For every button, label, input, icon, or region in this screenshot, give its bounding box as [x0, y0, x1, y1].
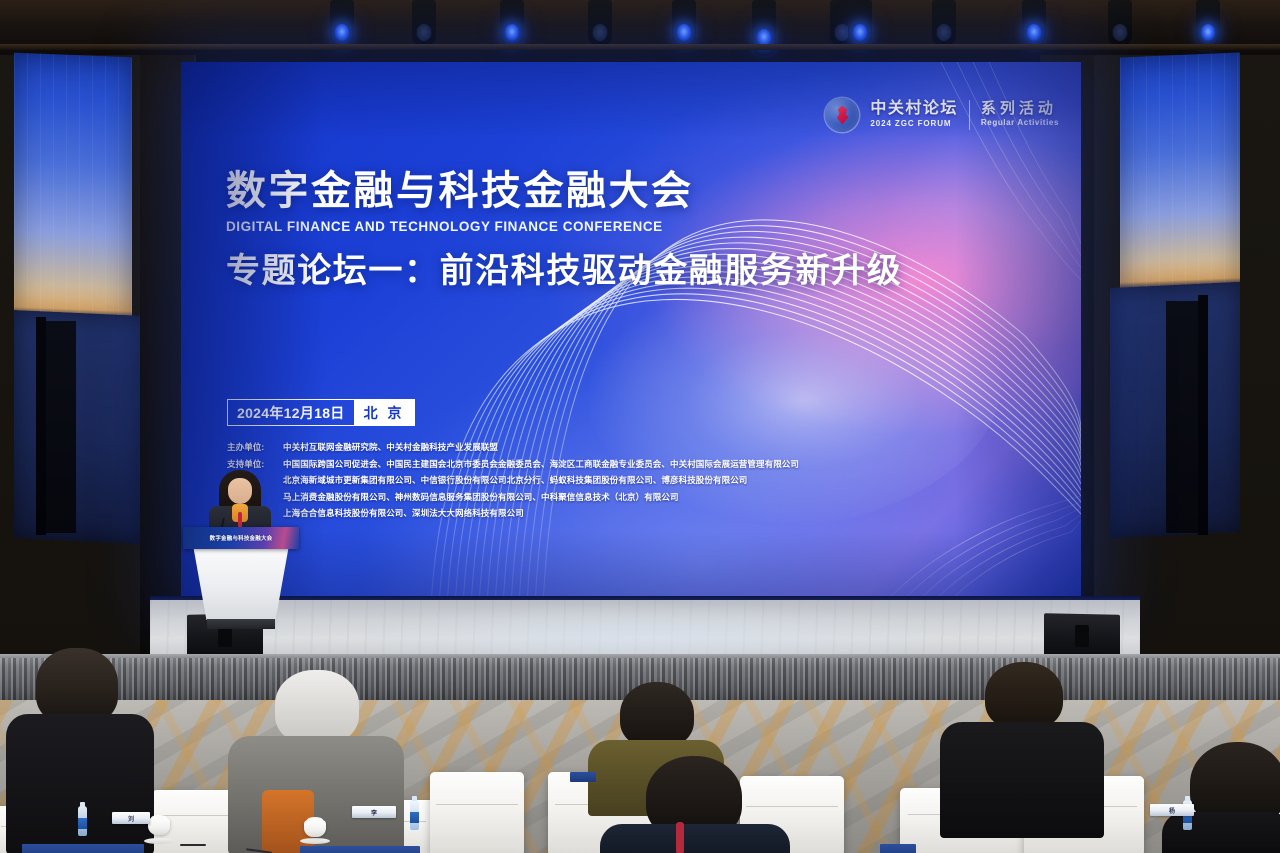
pen — [180, 844, 206, 846]
stage-light-icon — [412, 0, 436, 46]
name-plate-text: 李 — [371, 808, 377, 817]
wall-panel-dark — [14, 310, 142, 544]
water-bottle — [410, 800, 419, 830]
organizer-row: 主办单位: 中关村互联网金融研究院、中关村金融科技产业发展联盟 — [227, 439, 927, 456]
supporter-names-cont: 马上消费金融股份有限公司、神州数码信息服务集团股份有限公司、中科聚信信息技术（北… — [227, 489, 927, 506]
organizer-block: 主办单位: 中关村互联网金融研究院、中关村金融科技产业发展联盟 支持单位: 中国… — [227, 439, 927, 522]
white-sofa — [430, 772, 524, 853]
podium: 数字金融与科技金融大会 — [181, 515, 301, 620]
audience-head — [36, 648, 118, 724]
supporter-names: 中国国际跨国公司促进会、中国民主建国会北京市委员会金融委员会、海淀区工商联金融专… — [283, 456, 927, 473]
audience-head — [275, 670, 359, 744]
wave-line-art-graphic — [181, 62, 1081, 607]
supporter-names-cont: 北京海新域城市更新集团有限公司、中信银行股份有限公司北京分行、蚂蚁科技集团股份有… — [227, 472, 927, 489]
name-plate: 刘 — [112, 812, 150, 824]
conference-title-cn: 数字金融与科技金融大会 — [226, 170, 902, 213]
ceiling — [0, 0, 1280, 62]
supporter-names-cont: 上海合合信息科技股份有限公司、深圳法大大网络科技有限公司 — [227, 505, 927, 522]
stage-light-icon — [330, 0, 354, 46]
name-card — [22, 844, 144, 853]
conference-title-en: DIGITAL FINANCE AND TECHNOLOGY FINANCE C… — [226, 219, 902, 234]
event-date: 2024年12月18日 — [228, 400, 354, 425]
cup-saucer — [300, 838, 330, 844]
podium-base — [207, 619, 275, 629]
name-plate: 杨 — [1150, 804, 1194, 816]
cup-saucer — [144, 838, 174, 844]
podium-banner-text: 数字金融与科技金融大会 — [210, 534, 273, 542]
name-plate-text: 杨 — [1169, 806, 1175, 815]
door-face — [46, 321, 76, 533]
event-city: 北 京 — [354, 400, 415, 425]
logo-divider — [969, 100, 970, 130]
zgc-flame-icon — [825, 98, 859, 132]
stage-light-icon — [848, 0, 872, 46]
door-face — [1166, 301, 1198, 533]
audience-head — [620, 682, 694, 748]
podium-banner: 数字金融与科技金融大会 — [183, 527, 299, 549]
name-card — [570, 772, 596, 782]
ceiling-beam — [0, 44, 1280, 50]
name-card — [300, 846, 420, 853]
logo-name-en: 2024 ZGC FORUM — [870, 119, 958, 130]
forum-session-title: 专题论坛一：前沿科技驱动金融服务新升级 — [226, 253, 902, 290]
conference-hall-scene: 中关村论坛 2024 ZGC FORUM 系列活动 Regular Activi… — [0, 0, 1280, 853]
logo-name-cn: 中关村论坛 — [870, 101, 958, 118]
name-card — [880, 844, 916, 853]
audience-torso — [940, 722, 1104, 838]
stage-light-icon — [1196, 0, 1220, 46]
water-bottle — [78, 806, 87, 836]
speaker-face — [228, 478, 252, 504]
wall-panel-lit — [14, 53, 132, 320]
zgc-forum-logo-lockup: 中关村论坛 2024 ZGC FORUM 系列活动 Regular Activi… — [825, 98, 1059, 132]
stage-light-icon — [588, 0, 612, 46]
podium-body — [193, 545, 289, 620]
audience-lanyard — [676, 822, 684, 853]
name-plate-text: 刘 — [128, 814, 134, 823]
stage-light-icon — [1022, 0, 1046, 46]
led-presentation-screen: 中关村论坛 2024 ZGC FORUM 系列活动 Regular Activi… — [181, 62, 1081, 607]
audience-torso — [1162, 812, 1280, 853]
door-gap — [36, 317, 46, 535]
door-gap — [1198, 295, 1208, 535]
logo-activity-en: Regular Activities — [981, 118, 1059, 129]
audience-head — [985, 662, 1063, 730]
logo-activity-cn: 系列活动 — [981, 101, 1059, 117]
date-location-badge: 2024年12月18日 北 京 — [227, 399, 415, 426]
supporter-row: 支持单位: 中国国际跨国公司促进会、中国民主建国会北京市委员会金融委员会、海淀区… — [227, 456, 927, 473]
organizer-names: 中关村互联网金融研究院、中关村金融科技产业发展联盟 — [283, 439, 927, 456]
stage-monitor-speaker — [1044, 613, 1120, 659]
stage-light-icon — [1108, 0, 1132, 46]
stage-light-icon — [672, 0, 696, 46]
title-block: 数字金融与科技金融大会 DIGITAL FINANCE AND TECHNOLO… — [226, 170, 902, 291]
tea-cup — [304, 820, 326, 837]
right-wall — [1080, 55, 1280, 661]
audience-torso — [600, 824, 790, 853]
name-plate: 李 — [352, 806, 396, 818]
tea-cup — [148, 818, 170, 835]
lighting-truss — [0, 0, 1280, 62]
stage-light-icon — [932, 0, 956, 46]
stage-light-icon — [500, 0, 524, 46]
organizer-label: 主办单位: — [227, 439, 283, 456]
wall-panel-lit — [1120, 52, 1240, 289]
